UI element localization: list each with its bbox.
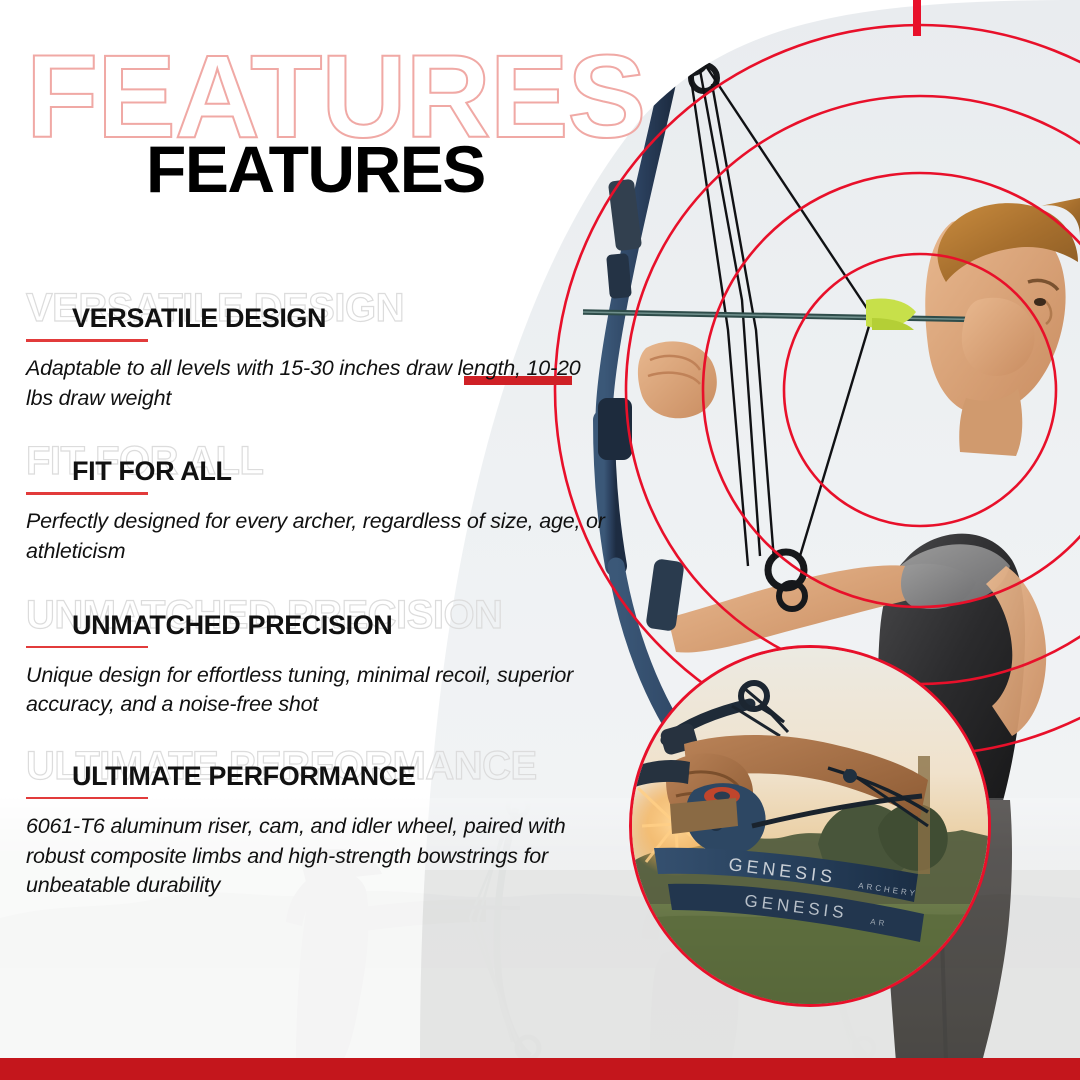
feature-title: FIT FOR ALL bbox=[72, 458, 232, 485]
feature-item: FIT FOR ALL FIT FOR ALL Perfectly design… bbox=[0, 441, 640, 566]
feature-list: VERSATILE DESIGN VERSATILE DESIGN Adapta… bbox=[0, 288, 640, 917]
feature-description: Adaptable to all levels with 15-30 inche… bbox=[26, 354, 606, 413]
feature-description: Unique design for effortless tuning, min… bbox=[26, 661, 606, 720]
feature-underline bbox=[26, 492, 148, 495]
feature-title: UNMATCHED PRECISION bbox=[72, 612, 392, 639]
feature-description: 6061-T6 aluminum riser, cam, and idler w… bbox=[26, 812, 626, 901]
feature-item: VERSATILE DESIGN VERSATILE DESIGN Adapta… bbox=[0, 288, 640, 413]
feature-item: ULTIMATE PERFORMANCE ULTIMATE PERFORMANC… bbox=[0, 746, 640, 901]
feature-item: UNMATCHED PRECISION UNMATCHED PRECISION … bbox=[0, 595, 640, 720]
feature-title-box: ULTIMATE PERFORMANCE ULTIMATE PERFORMANC… bbox=[0, 746, 640, 800]
feature-title-box: FIT FOR ALL FIT FOR ALL bbox=[0, 441, 640, 495]
feature-title: ULTIMATE PERFORMANCE bbox=[72, 763, 415, 790]
bottom-accent-bar bbox=[0, 1058, 1080, 1080]
feature-title-box: VERSATILE DESIGN VERSATILE DESIGN bbox=[0, 288, 640, 342]
page-title: FEATURES FEATURES bbox=[0, 38, 760, 198]
infographic-canvas: FEATURES FEATURES VERSATILE DESIGN VERSA… bbox=[0, 0, 1080, 1080]
page-title-solid: FEATURES bbox=[146, 136, 485, 202]
feature-underline bbox=[26, 797, 148, 800]
feature-title-box: UNMATCHED PRECISION UNMATCHED PRECISION bbox=[0, 595, 640, 649]
feature-title: VERSATILE DESIGN bbox=[72, 305, 326, 332]
target-tick-top bbox=[913, 0, 921, 36]
feature-underline bbox=[26, 646, 148, 649]
feature-underline bbox=[26, 339, 148, 342]
feature-description: Perfectly designed for every archer, reg… bbox=[26, 507, 606, 566]
product-detail-inset: GENESIS ARCHERY GENESIS AR bbox=[629, 645, 991, 1007]
